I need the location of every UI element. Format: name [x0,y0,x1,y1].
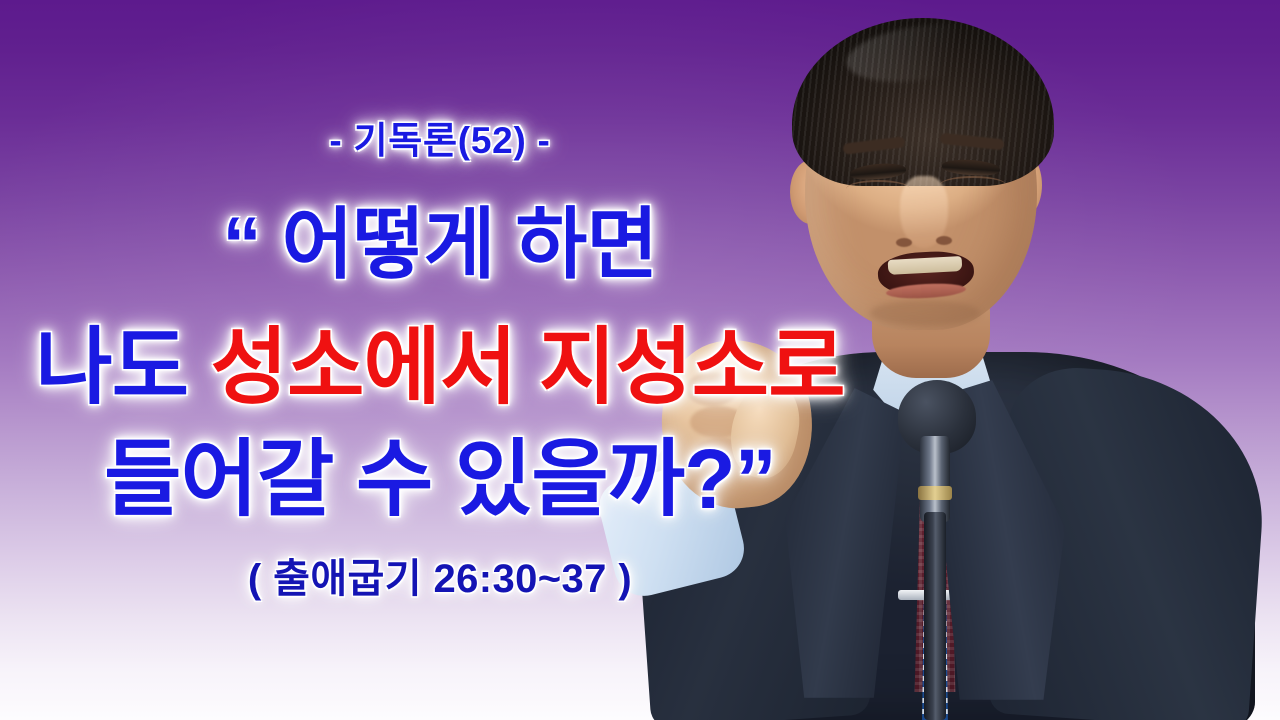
microphone-ring [918,486,952,500]
microphone-body [920,436,950,522]
nostril-left [896,238,912,247]
speaker-photo [600,0,1280,720]
microphone-stem [924,512,946,720]
photo-left-blend [600,0,750,720]
under-eye-right [940,176,1006,194]
chin-shadow [870,300,980,326]
sermon-title-slide: - 기독론(52) - “ 어떻게 하면 나도 성소에서 지성소로 들어갈 수 … [0,0,1280,720]
nostril-right [936,236,952,245]
